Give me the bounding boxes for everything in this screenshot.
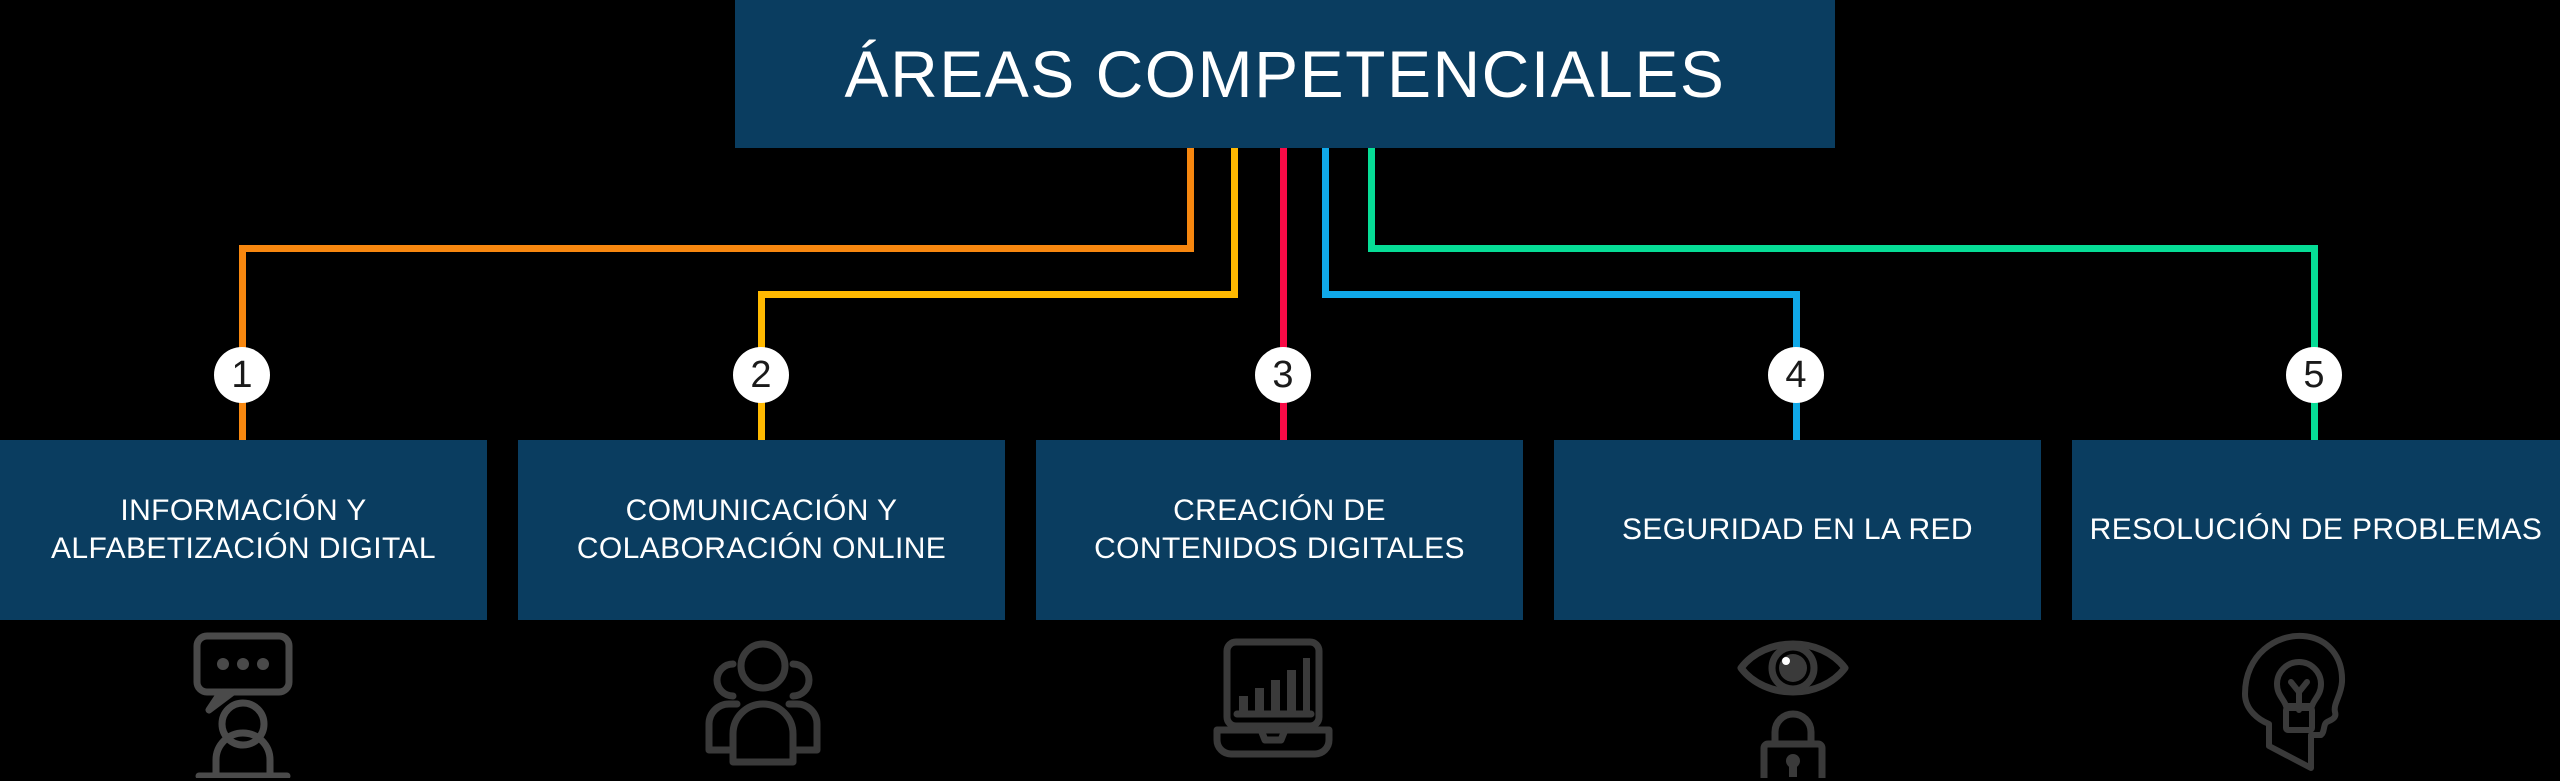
connector-5-trunk [1368, 148, 1375, 252]
step-badge-4[interactable]: 4 [1768, 347, 1824, 403]
page-title: ÁREAS COMPETENCIALES [845, 36, 1726, 112]
area-label-5: RESOLUCIÓN DE PROBLEMAS [2090, 511, 2543, 549]
area-box-2[interactable]: COMUNICACIÓN Y COLABORACIÓN ONLINE [518, 440, 1005, 620]
diagram-canvas: ÁREAS COMPETENCIALES 1 2 3 4 5 INFORMACI… [0, 0, 2560, 781]
area-box-3[interactable]: CREACIÓN DE CONTENIDOS DIGITALES [1036, 440, 1523, 620]
connector-5-drop [2311, 245, 2318, 350]
connector-1-tail [239, 400, 246, 445]
connector-2-drop [758, 291, 765, 350]
connector-5-tail [2311, 400, 2318, 445]
area-icon-2-wrap [688, 628, 838, 781]
step-badge-5[interactable]: 5 [2286, 347, 2342, 403]
laptop-bar-chart-icon [1203, 628, 1343, 778]
connector-2-trunk [1231, 148, 1238, 298]
step-badge-3[interactable]: 3 [1255, 347, 1311, 403]
area-icon-3-wrap [1198, 628, 1348, 781]
step-badge-1[interactable]: 1 [214, 347, 270, 403]
area-icon-5-wrap [2218, 628, 2368, 781]
area-label-3: CREACIÓN DE CONTENIDOS DIGITALES [1094, 492, 1465, 569]
connector-4-horizontal [1322, 291, 1800, 298]
area-box-1[interactable]: INFORMACIÓN Y ALFABETIZACIÓN DIGITAL [0, 440, 487, 620]
connector-4-tail [1793, 400, 1800, 445]
connector-1-drop [239, 245, 246, 350]
area-label-1: INFORMACIÓN Y ALFABETIZACIÓN DIGITAL [51, 492, 436, 569]
page-title-box: ÁREAS COMPETENCIALES [735, 0, 1835, 148]
group-people-icon [693, 628, 833, 778]
step-badge-5-label: 5 [2303, 356, 2324, 394]
eye-padlock-icon [1723, 628, 1863, 778]
connector-2-tail [758, 400, 765, 445]
step-badge-1-label: 1 [231, 356, 252, 394]
area-box-5[interactable]: RESOLUCIÓN DE PROBLEMAS [2072, 440, 2560, 620]
connector-1-trunk [1187, 148, 1194, 252]
head-lightbulb-icon [2223, 628, 2363, 778]
step-badge-3-label: 3 [1272, 356, 1293, 394]
area-icon-4-wrap [1718, 628, 1868, 781]
connector-2-horizontal [758, 291, 1238, 298]
person-speech-bubble-icon [173, 628, 313, 778]
connector-1-horizontal [239, 245, 1194, 252]
connector-4-trunk [1322, 148, 1329, 298]
connector-3-trunk [1280, 148, 1287, 350]
connector-5-horizontal [1368, 245, 2318, 252]
step-badge-2[interactable]: 2 [733, 347, 789, 403]
step-badge-4-label: 4 [1785, 356, 1806, 394]
connector-4-drop [1793, 291, 1800, 350]
connector-3-tail [1280, 400, 1287, 445]
area-label-2: COMUNICACIÓN Y COLABORACIÓN ONLINE [577, 492, 946, 569]
area-box-4[interactable]: SEGURIDAD EN LA RED [1554, 440, 2041, 620]
area-label-4: SEGURIDAD EN LA RED [1622, 511, 1973, 549]
area-icon-1-wrap [168, 628, 318, 781]
step-badge-2-label: 2 [750, 356, 771, 394]
